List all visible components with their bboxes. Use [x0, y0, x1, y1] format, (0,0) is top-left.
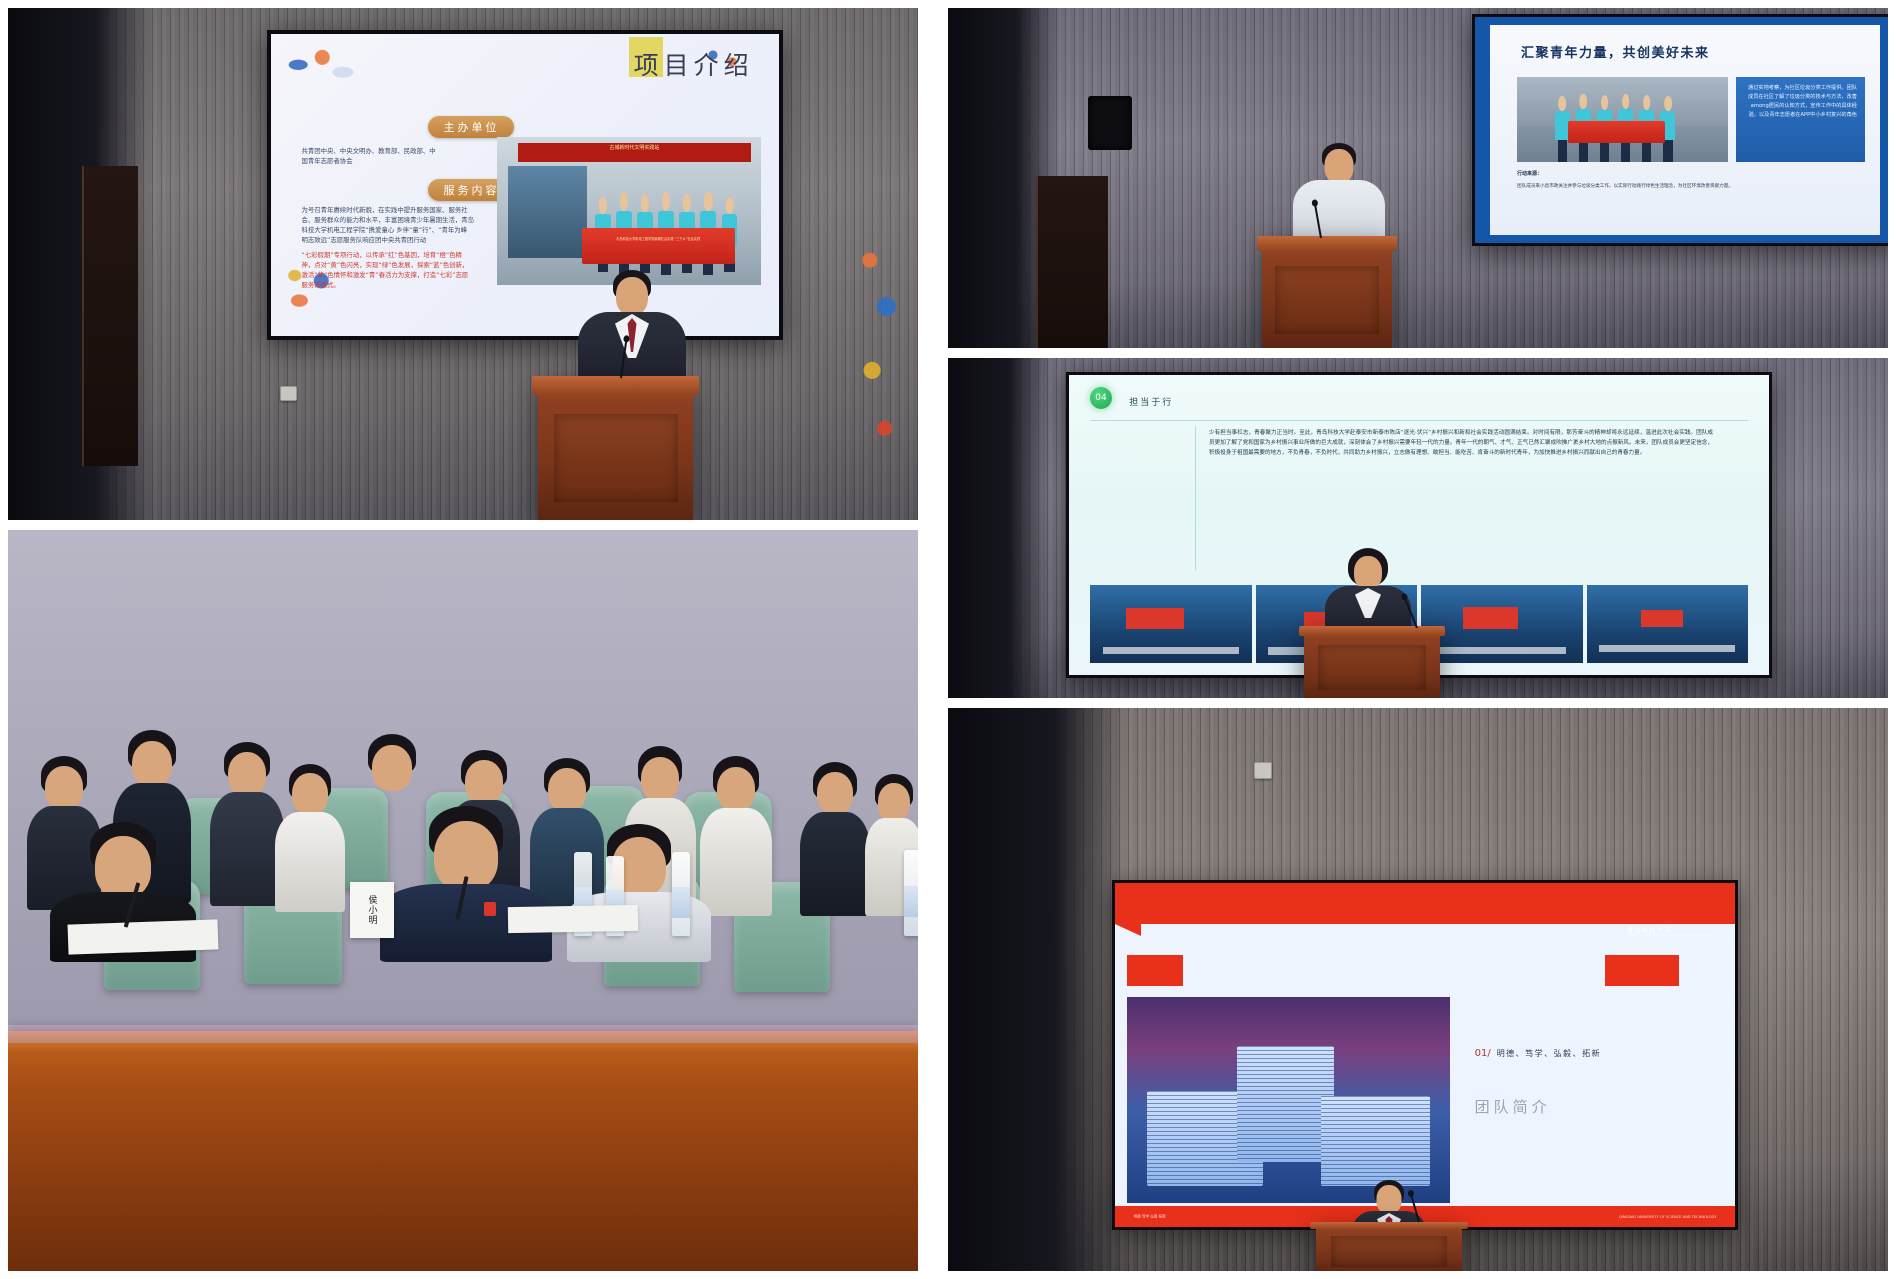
audience-head — [717, 767, 755, 811]
podium-middle-right — [1304, 626, 1440, 698]
photo-banner-text: 青岛科技大学机电工程学院暑期社会实践 “三下乡”社会实践 — [587, 237, 730, 242]
slide-body-text: 少有担当事杠志，青春聚力正当时。至此，青岛科技大学赴泰安市新泰市陈店“逐光·伏兴… — [1209, 429, 1713, 459]
slide-thumbnail — [1421, 585, 1583, 663]
slide-left-text: 团队成员来小昌市政关注并参与垃圾分类工作，以实际行动践行绿色生活理念，为社区环境… — [1517, 183, 1853, 191]
speaker-head — [1354, 556, 1382, 589]
audience-body — [800, 812, 870, 916]
podium-front-panel — [554, 414, 678, 502]
audience-head — [132, 741, 172, 787]
slide-youth-power: 汇聚青年力量，共创美好未来 通过实地考察，为社区垃圾分类工 — [1475, 17, 1888, 243]
slide-team-introduction: 青岛科技大学 QINGDAO UNIVERSITY OF SCIENCE AND… — [1115, 883, 1735, 1227]
audience-head — [372, 745, 412, 791]
slide-section-1-label: 主办单位 — [428, 116, 514, 138]
judge-badge — [484, 902, 496, 916]
wall-switch-plate — [1254, 762, 1272, 779]
slide-title: 项目介绍 — [634, 46, 754, 82]
panel-middle-right: 04 担当于行 少有担当事杠志，青春聚力正当时。至此，青岛科技大学赴泰安市新泰市… — [948, 358, 1888, 698]
panel-bottom-left: 侯小明 — [8, 530, 918, 1271]
audience-head — [228, 752, 266, 796]
audience-head — [641, 757, 679, 801]
slide-number-badge: 04 — [1090, 387, 1112, 409]
presentation-screen: 汇聚青年力量，共创美好未来 通过实地考察，为社区垃圾分类工 — [1472, 14, 1888, 246]
podium-front-panel — [1318, 645, 1427, 689]
table-upper-surface — [8, 1025, 918, 1043]
slide-footer-text: 明德 笃学 弘毅 拓新 — [1134, 1214, 1166, 1219]
podium-top-surface — [532, 376, 699, 395]
audience-head — [292, 773, 328, 815]
podium-front-panel — [1331, 1236, 1448, 1267]
audience-head — [465, 760, 503, 804]
slide-title: 汇聚青年力量，共创美好未来 — [1521, 42, 1710, 61]
slide-thumbnail — [1090, 585, 1252, 663]
audience-head — [817, 772, 853, 814]
side-door — [1036, 176, 1108, 348]
slide-inner-page: 汇聚青年力量，共创美好未来 通过实地考察，为社区垃圾分类工 — [1490, 25, 1881, 235]
bottle-label — [904, 886, 918, 917]
podium-top-surface — [1299, 626, 1446, 636]
slide-decor-top-left — [281, 40, 367, 102]
presentation-screen: 项目介绍 主办单位 共青团中央、中央文明办、教育部、民政部、中国青年志愿者协会 … — [267, 30, 783, 340]
presentation-screen: 青岛科技大学 QINGDAO UNIVERSITY OF SCIENCE AND… — [1112, 880, 1738, 1230]
slide-section-1-text: 共青团中央、中央文明办、教育部、民政部、中国青年志愿者协会 — [301, 147, 438, 167]
slide-blue-box: 通过实地考察，为社区垃圾分类工作提供。团队成员在社区了解了垃圾分类的技术与方法，… — [1736, 77, 1865, 161]
section-number-text: 01/ — [1475, 1048, 1491, 1059]
slide-team-photo: 古城新时代文明实践站 青岛科技大学机电工程学院暑期社会实践 “三下乡”社会实践 — [497, 137, 761, 285]
judge-name-card: 侯小明 — [350, 882, 394, 938]
audience-member — [798, 762, 872, 914]
panel-top-left: 项目介绍 主办单位 共青团中央、中央文明办、教育部、民政部、中国青年志愿者协会 … — [8, 8, 918, 520]
slide-section-number: 01/明德、笃学、弘毅、拓新 — [1475, 1048, 1602, 1059]
judge-name-text: 侯小明 — [366, 895, 379, 925]
campus-building — [1321, 1096, 1431, 1187]
university-logo: 青岛科技大学 QINGDAO UNIVERSITY OF SCIENCE AND… — [1627, 924, 1711, 937]
speaker-head — [616, 277, 648, 315]
paper-sheet — [68, 919, 219, 954]
slide-footer-text-en: QINGDAO UNIVERSITY OF SCIENCE AND TECHNO… — [1619, 1215, 1716, 1219]
university-motto: 明德、笃学、弘毅、拓新 — [1497, 1049, 1602, 1058]
photo-red-banner — [582, 228, 735, 264]
slide-campus-photo — [1127, 997, 1449, 1203]
wall-switch-plate — [280, 386, 297, 401]
panel-top-right: 汇聚青年力量，共创美好未来 通过实地考察，为社区垃圾分类工 — [948, 8, 1888, 348]
dark-wall-edge — [948, 358, 1051, 698]
slide-rule-horizontal — [1090, 420, 1748, 421]
podium-top-right — [1262, 236, 1392, 348]
judge-head — [95, 836, 151, 898]
water-bottle — [672, 852, 690, 936]
slide-project-introduction: 项目介绍 主办单位 共青团中央、中央文明办、教育部、民政部、中国青年志愿者协会 … — [271, 34, 779, 336]
panel-bottom-right: 青岛科技大学 QINGDAO UNIVERSITY OF SCIENCE AND… — [948, 708, 1888, 1271]
slide-heading: 团队简介 — [1475, 1096, 1551, 1117]
judges-table — [8, 1031, 918, 1271]
campus-building — [1237, 1046, 1334, 1162]
podium-front-panel — [1275, 266, 1379, 334]
bottle-label — [672, 887, 690, 917]
speaker-head — [1377, 1185, 1402, 1214]
audience-head — [45, 766, 83, 810]
paper-sheet — [508, 905, 638, 933]
university-name-en: QINGDAO UNIVERSITY OF SCIENCE AND TECHNO… — [1627, 934, 1711, 937]
slide-title: 担当于行 — [1129, 395, 1173, 408]
photo-doorway — [508, 166, 587, 258]
audience-member — [274, 764, 346, 910]
podium-top-surface — [1310, 1222, 1468, 1229]
photo-sign-text: 古城新时代文明实践站 — [518, 143, 750, 162]
photo-collage: 项目介绍 主办单位 共青团中央、中央文明办、教育部、民政部、中国青年志愿者协会 … — [0, 0, 1896, 1279]
audience-head — [878, 783, 910, 821]
slide-red-chip — [1127, 955, 1183, 986]
podium-top-left — [538, 376, 693, 520]
photo-red-banner — [1568, 121, 1665, 143]
slide-photo — [1517, 77, 1728, 161]
water-bottle — [904, 850, 918, 936]
podium-bottom-right — [1316, 1222, 1462, 1271]
slide-top-red-bar — [1115, 883, 1735, 924]
side-door — [82, 166, 138, 466]
audience-body — [275, 812, 345, 912]
slide-section-2-text: 为号召青年赓续时代新貌，在实践中提升服务国家、服务社会、服务群众的能力和水平，丰… — [301, 206, 474, 246]
wall-artwork — [856, 208, 902, 498]
slide-thumbnail — [1587, 585, 1749, 663]
podium-top-surface — [1257, 236, 1397, 251]
slide-section-2-text-highlight: “七彩假期”专项行动，以传承“红”色基因，培育“橙”色精神，点对“黄”色闪亮，实… — [301, 251, 474, 291]
speaker-head — [1325, 149, 1354, 183]
slide-red-chip — [1605, 955, 1679, 986]
dark-wall-edge — [948, 708, 1127, 1271]
slide-blue-box-text: 通过实地考察，为社区垃圾分类工作提供。团队成员在社区了解了垃圾分类的技术与方法，… — [1744, 84, 1857, 155]
slide-rule-vertical — [1195, 426, 1196, 570]
audience-body — [210, 792, 284, 906]
slide-left-heading: 行动来源： — [1517, 170, 1542, 177]
wall-speaker-grille — [1088, 96, 1132, 150]
